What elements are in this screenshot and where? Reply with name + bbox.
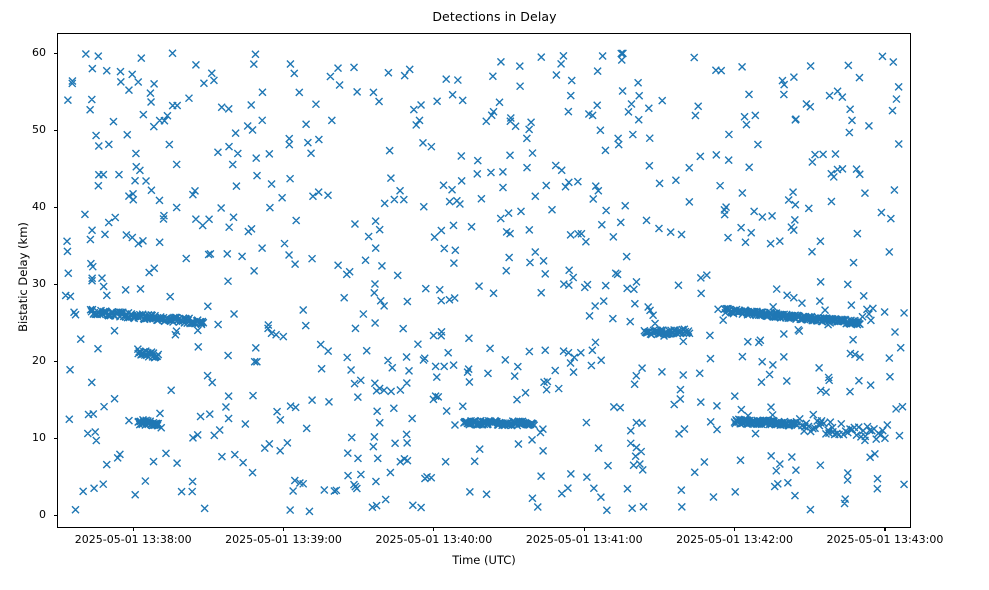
x-tick-mark: [283, 528, 284, 532]
x-tick-label: 2025-05-01 13:38:00: [75, 533, 192, 546]
x-tick-label: 2025-05-01 13:39:00: [225, 533, 342, 546]
x-tick-mark: [584, 528, 585, 532]
x-tick-mark: [884, 528, 885, 532]
scatter-markers: [62, 50, 907, 515]
x-tick-label: 2025-05-01 13:40:00: [375, 533, 492, 546]
x-tick-label: 2025-05-01 13:42:00: [676, 533, 793, 546]
x-tick-label: 2025-05-01 13:43:00: [827, 533, 944, 546]
x-tick-mark: [734, 528, 735, 532]
plot-area: [57, 33, 911, 528]
x-tick-label: 2025-05-01 13:41:00: [526, 533, 643, 546]
scatter-layer: [58, 34, 910, 527]
chart-title: Detections in Delay: [0, 9, 989, 24]
x-tick-mark: [433, 528, 434, 532]
y-tick-label: 60: [2, 46, 46, 59]
x-axis-label: Time (UTC): [57, 553, 911, 567]
y-tick-label: 10: [2, 431, 46, 444]
y-tick-label: 50: [2, 123, 46, 136]
y-tick-label: 0: [2, 508, 46, 521]
x-tick-mark: [133, 528, 134, 532]
figure-canvas: Detections in Delay 0102030405060 2025-0…: [0, 0, 989, 590]
y-axis-label: Bistatic Delay (km): [16, 147, 30, 407]
